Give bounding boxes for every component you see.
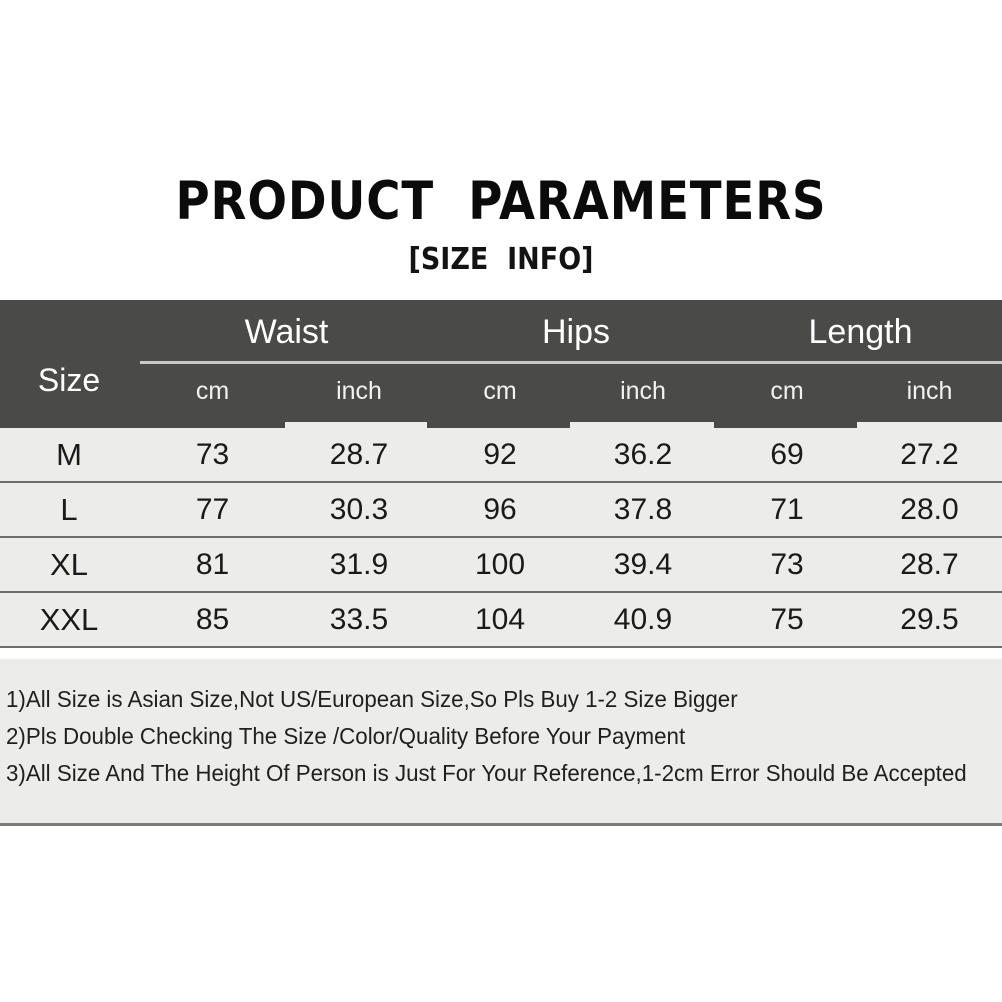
table-row: XXL 85 33.5 104 40.9 75 29.5: [0, 593, 1002, 648]
cell-waist-inch: 33.5: [285, 593, 433, 646]
cell-hips-inch: 40.9: [570, 593, 716, 646]
size-notes-panel: 1)All Size is Asian Size,Not US/European…: [0, 659, 1002, 826]
cell-length-cm: 75: [714, 593, 860, 646]
cell-size: XL: [8, 538, 130, 591]
cell-length-cm: 73: [714, 538, 860, 591]
cell-length-inch: 29.5: [857, 593, 1002, 646]
column-header-waist-inch: inch: [285, 374, 433, 408]
cell-waist-cm: 77: [140, 483, 285, 536]
cell-hips-inch: 37.8: [570, 483, 716, 536]
size-chart-page: PRODUCT PARAMETERS [SIZE INFO] Size Wais…: [0, 0, 1002, 1002]
group-header-hips: Hips: [433, 308, 719, 356]
cell-size: M: [8, 428, 130, 481]
table-body: M 73 28.7 92 36.2 69 27.2 L 77 30.3 96 3…: [0, 428, 1002, 648]
note-line-3: 3)All Size And The Height Of Person is J…: [6, 755, 966, 792]
cell-waist-inch: 28.7: [285, 428, 433, 481]
table-row: L 77 30.3 96 37.8 71 28.0: [0, 483, 1002, 538]
size-table: Size Waist Hips Length cm inch cm inch c…: [0, 300, 1002, 648]
column-header-hips-cm: cm: [427, 374, 573, 408]
cell-size: XXL: [8, 593, 130, 646]
cell-length-inch: 28.0: [857, 483, 1002, 536]
group-header-row: Waist Hips Length: [0, 300, 1002, 362]
column-header-hips-inch: inch: [570, 374, 716, 408]
cell-waist-cm: 81: [140, 538, 285, 591]
cell-length-inch: 27.2: [857, 428, 1002, 481]
column-header-length-cm: cm: [714, 374, 860, 408]
cell-waist-cm: 73: [140, 428, 285, 481]
cell-length-inch: 28.7: [857, 538, 1002, 591]
group-header-waist: Waist: [140, 308, 433, 356]
title-block: PRODUCT PARAMETERS [SIZE INFO]: [0, 172, 1002, 278]
page-subtitle: [SIZE INFO]: [50, 242, 952, 278]
cell-hips-inch: 39.4: [570, 538, 716, 591]
cell-size: L: [8, 483, 130, 536]
cell-waist-cm: 85: [140, 593, 285, 646]
cell-length-cm: 71: [714, 483, 860, 536]
note-line-2: 2)Pls Double Checking The Size /Color/Qu…: [6, 718, 966, 755]
cell-waist-inch: 30.3: [285, 483, 433, 536]
column-header-length-inch: inch: [857, 374, 1002, 408]
cell-waist-inch: 31.9: [285, 538, 433, 591]
group-header-length: Length: [719, 308, 1002, 356]
cell-hips-cm: 96: [427, 483, 573, 536]
cell-hips-cm: 100: [427, 538, 573, 591]
table-row: M 73 28.7 92 36.2 69 27.2: [0, 428, 1002, 483]
table-header: Size Waist Hips Length cm inch cm inch c…: [0, 300, 1002, 428]
cell-hips-cm: 92: [427, 428, 573, 481]
cell-hips-cm: 104: [427, 593, 573, 646]
note-line-1: 1)All Size is Asian Size,Not US/European…: [6, 681, 966, 718]
cell-length-cm: 69: [714, 428, 860, 481]
page-title: PRODUCT PARAMETERS: [60, 172, 942, 232]
column-header-waist-cm: cm: [140, 374, 285, 408]
unit-header-row: cm inch cm inch cm inch: [0, 366, 1002, 422]
group-header-underline: [140, 361, 1002, 364]
table-row: XL 81 31.9 100 39.4 73 28.7: [0, 538, 1002, 593]
cell-hips-inch: 36.2: [570, 428, 716, 481]
